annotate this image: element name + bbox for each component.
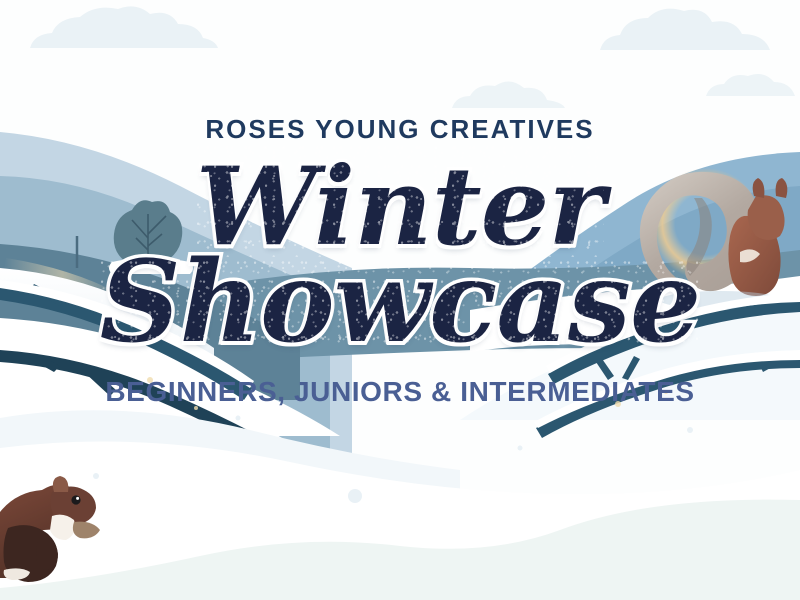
winter-showcase-poster: ROSES YOUNG CREATIVES Winter Showcase BE… [0,0,800,600]
scene-illustration [0,0,800,600]
stoat-eye-glint [76,497,79,500]
stoat-eye [71,495,80,504]
